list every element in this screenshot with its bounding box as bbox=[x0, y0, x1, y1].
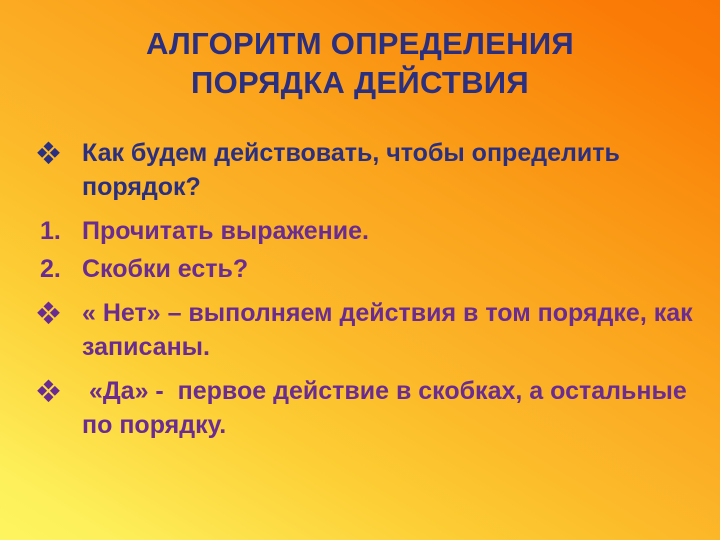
list-item: Как будем действовать, чтобы определить … bbox=[40, 136, 695, 204]
list-item-label: Скобки есть? bbox=[82, 252, 695, 286]
list-item-label: Прочитать выражение. bbox=[82, 214, 695, 248]
list-item: 2. Скобки есть? bbox=[40, 252, 695, 286]
diamond-bullet-icon bbox=[40, 296, 82, 322]
list-number: 1. bbox=[40, 214, 82, 248]
presentation-slide: АЛГОРИТМ ОПРЕДЕЛЕНИЯ ПОРЯДКА ДЕЙСТВИЯ Ка… bbox=[0, 0, 720, 540]
slide-title-line-1: АЛГОРИТМ ОПРЕДЕЛЕНИЯ bbox=[40, 24, 680, 63]
list-item-label: «Да» - первое действие в скобках, а оста… bbox=[82, 374, 695, 442]
list-item: 1. Прочитать выражение. bbox=[40, 214, 695, 248]
slide-body-list: Как будем действовать, чтобы определить … bbox=[40, 136, 695, 446]
list-item-label: Как будем действовать, чтобы определить … bbox=[82, 136, 695, 204]
list-item-label: « Нет» – выполняем действия в том порядк… bbox=[82, 296, 695, 364]
list-number: 2. bbox=[40, 252, 82, 286]
slide-title-line-2: ПОРЯДКА ДЕЙСТВИЯ bbox=[40, 63, 680, 102]
diamond-bullet-icon bbox=[40, 136, 82, 162]
slide-title: АЛГОРИТМ ОПРЕДЕЛЕНИЯ ПОРЯДКА ДЕЙСТВИЯ bbox=[40, 24, 680, 102]
list-item: «Да» - первое действие в скобках, а оста… bbox=[40, 374, 695, 442]
list-item: « Нет» – выполняем действия в том порядк… bbox=[40, 296, 695, 364]
diamond-bullet-icon bbox=[40, 374, 82, 400]
